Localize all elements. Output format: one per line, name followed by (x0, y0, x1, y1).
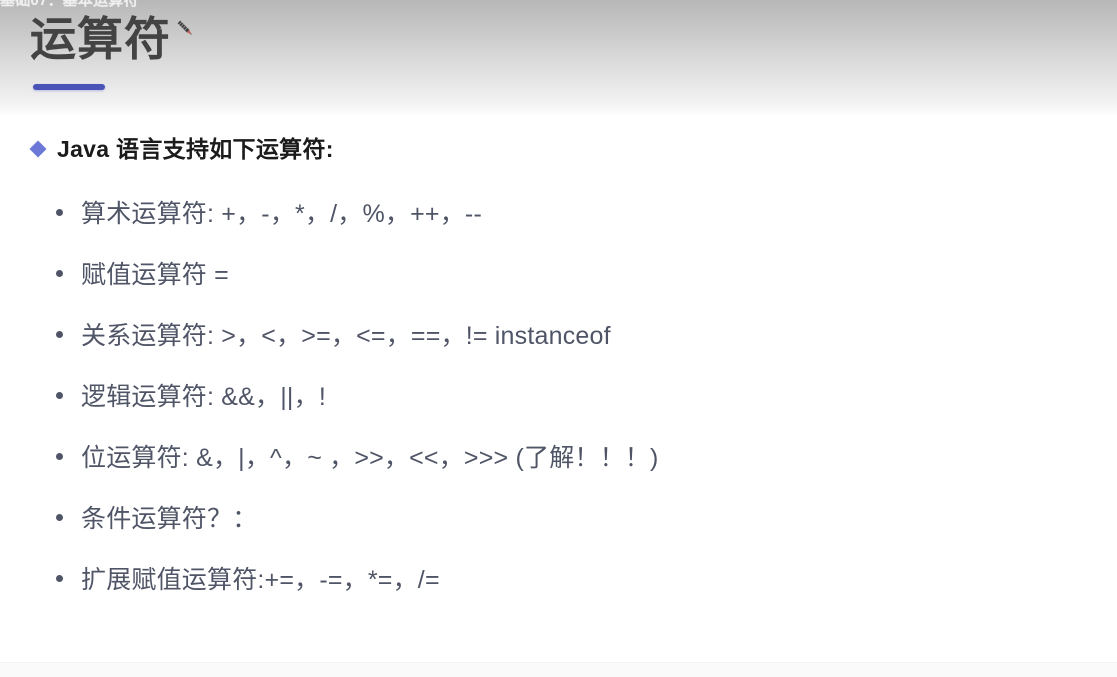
list-item: 条件运算符？： (56, 503, 1076, 564)
dot-icon (56, 270, 63, 277)
list-item: 扩展赋值运算符:+=，-=，*=，/= (56, 564, 1076, 625)
list-item: 位运算符: &，|，^，~ ，>>，<<，>>> (了解！！！) (56, 442, 1076, 503)
bottom-divider (0, 662, 1117, 677)
breadcrumb: 基础07：基本运算符 (0, 0, 139, 11)
list-item: 逻辑运算符: &&，||，! (56, 381, 1076, 442)
page-title: 运算符 (30, 12, 171, 66)
dot-icon (56, 331, 63, 338)
title-row: 运算符 (30, 12, 199, 66)
pen-icon (173, 16, 199, 42)
section-heading: Java 语言支持如下运算符: (57, 135, 334, 163)
list-item-label: 位运算符: &，|，^，~ ，>>，<<，>>> (了解！！！) (81, 442, 659, 474)
diamond-icon (29, 140, 47, 158)
dot-icon (56, 392, 63, 399)
title-underline-accent (33, 84, 105, 90)
list-item-label: 算术运算符: +，-，*，/，%，++，-- (81, 198, 482, 230)
list-item-label: 关系运算符: >，<，>=，<=，==，!= instanceof (81, 320, 611, 352)
list-item-label: 赋值运算符 = (81, 259, 229, 291)
slide-canvas: 基础07：基本运算符 运算符 Java 语言支持如 (0, 0, 1117, 677)
list-item: 算术运算符: +，-，*，/，%，++，-- (56, 198, 1076, 259)
list-item-label: 逻辑运算符: &&，||，! (81, 381, 326, 413)
list-item-label: 扩展赋值运算符:+=，-=，*=，/= (81, 564, 440, 596)
dot-icon (56, 575, 63, 582)
list-item: 关系运算符: >，<，>=，<=，==，!= instanceof (56, 320, 1076, 381)
list-item: 赋值运算符 = (56, 259, 1076, 320)
operator-list: 算术运算符: +，-，*，/，%，++，-- 赋值运算符 = 关系运算符: >，… (56, 198, 1076, 625)
list-item-label: 条件运算符？： (81, 503, 257, 535)
dot-icon (56, 453, 63, 460)
heading-row: Java 语言支持如下运算符: (29, 132, 334, 166)
dot-icon (56, 514, 63, 521)
dot-icon (56, 209, 63, 216)
